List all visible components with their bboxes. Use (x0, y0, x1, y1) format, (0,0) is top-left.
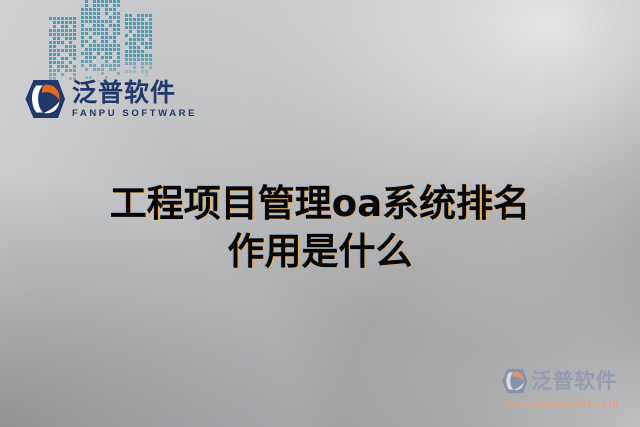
fanpu-hexagon-logo-watermark-icon (500, 368, 528, 394)
watermark-brand-name: 泛普软件 (531, 371, 617, 392)
brand-logo-text: 泛普软件 FANPU SOFTWARE (72, 80, 197, 119)
headline-line-2: 作用是什么 (0, 228, 640, 276)
fanpu-hexagon-logo-icon (22, 79, 66, 119)
brand-name-chinese: 泛普软件 (72, 80, 197, 105)
watermark-brand: 泛普软件 (500, 368, 636, 394)
brand-logo: 泛普软件 FANPU SOFTWARE (22, 79, 197, 119)
headline: 工程项目管理oa系统排名 作用是什么 (0, 180, 640, 276)
headline-line-1: 工程项目管理oa系统排名 (0, 180, 640, 228)
watermark-url: www.fanpusoft.com (502, 396, 636, 412)
brand-name-english: FANPU SOFTWARE (72, 109, 197, 119)
promo-banner: 泛普软件 FANPU SOFTWARE 工程项目管理oa系统排名 作用是什么 泛… (0, 0, 640, 427)
site-watermark: 泛普软件 www.fanpusoft.com (500, 368, 636, 412)
pixel-skyline-graphic (47, 0, 157, 82)
